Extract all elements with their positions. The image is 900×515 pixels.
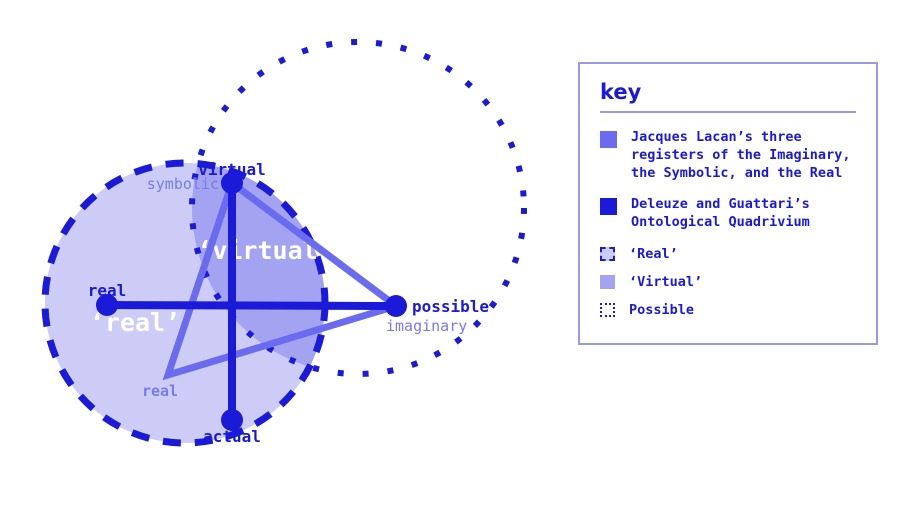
swatch-deleuze-guattari-icon (600, 198, 617, 215)
node-sublabel-imaginary: imaginary (386, 317, 467, 335)
node-label-real-vertex: real (142, 382, 178, 400)
key-entry-deleuze-guattari-label: Deleuze and Guattari’s Ontological Quadr… (631, 196, 810, 232)
horizontal-axis (107, 305, 396, 306)
node-label-possible: possible (412, 297, 489, 316)
key-panel: key Jacques Lacan’s three registers of t… (578, 62, 878, 345)
node-label-actual: actual (203, 427, 261, 446)
key-entry-real: ‘Real’ (600, 246, 856, 264)
key-title: key (600, 82, 856, 103)
swatch-virtual-icon (600, 275, 615, 289)
node-sublabel-symbolic: symbolic (147, 175, 219, 193)
key-entry-possible: Possible (600, 302, 856, 320)
key-entry-deleuze-guattari: Deleuze and Guattari’s Ontological Quadr… (600, 196, 856, 232)
key-entry-virtual-label: ‘Virtual’ (629, 274, 702, 292)
swatch-possible-icon (600, 303, 615, 317)
key-divider (600, 111, 856, 113)
key-entry-lacan: Jacques Lacan’s three registers of the I… (600, 129, 856, 182)
key-entry-possible-label: Possible (629, 302, 694, 320)
node-dot-possible[interactable] (385, 295, 407, 317)
swatch-lacan-icon (600, 131, 617, 148)
key-entry-lacan-label: Jacques Lacan’s three registers of the I… (631, 129, 850, 182)
node-label-real: real (88, 281, 127, 300)
key-entry-real-label: ‘Real’ (629, 246, 678, 264)
key-entry-virtual: ‘Virtual’ (600, 274, 856, 292)
swatch-real-icon (600, 247, 615, 261)
